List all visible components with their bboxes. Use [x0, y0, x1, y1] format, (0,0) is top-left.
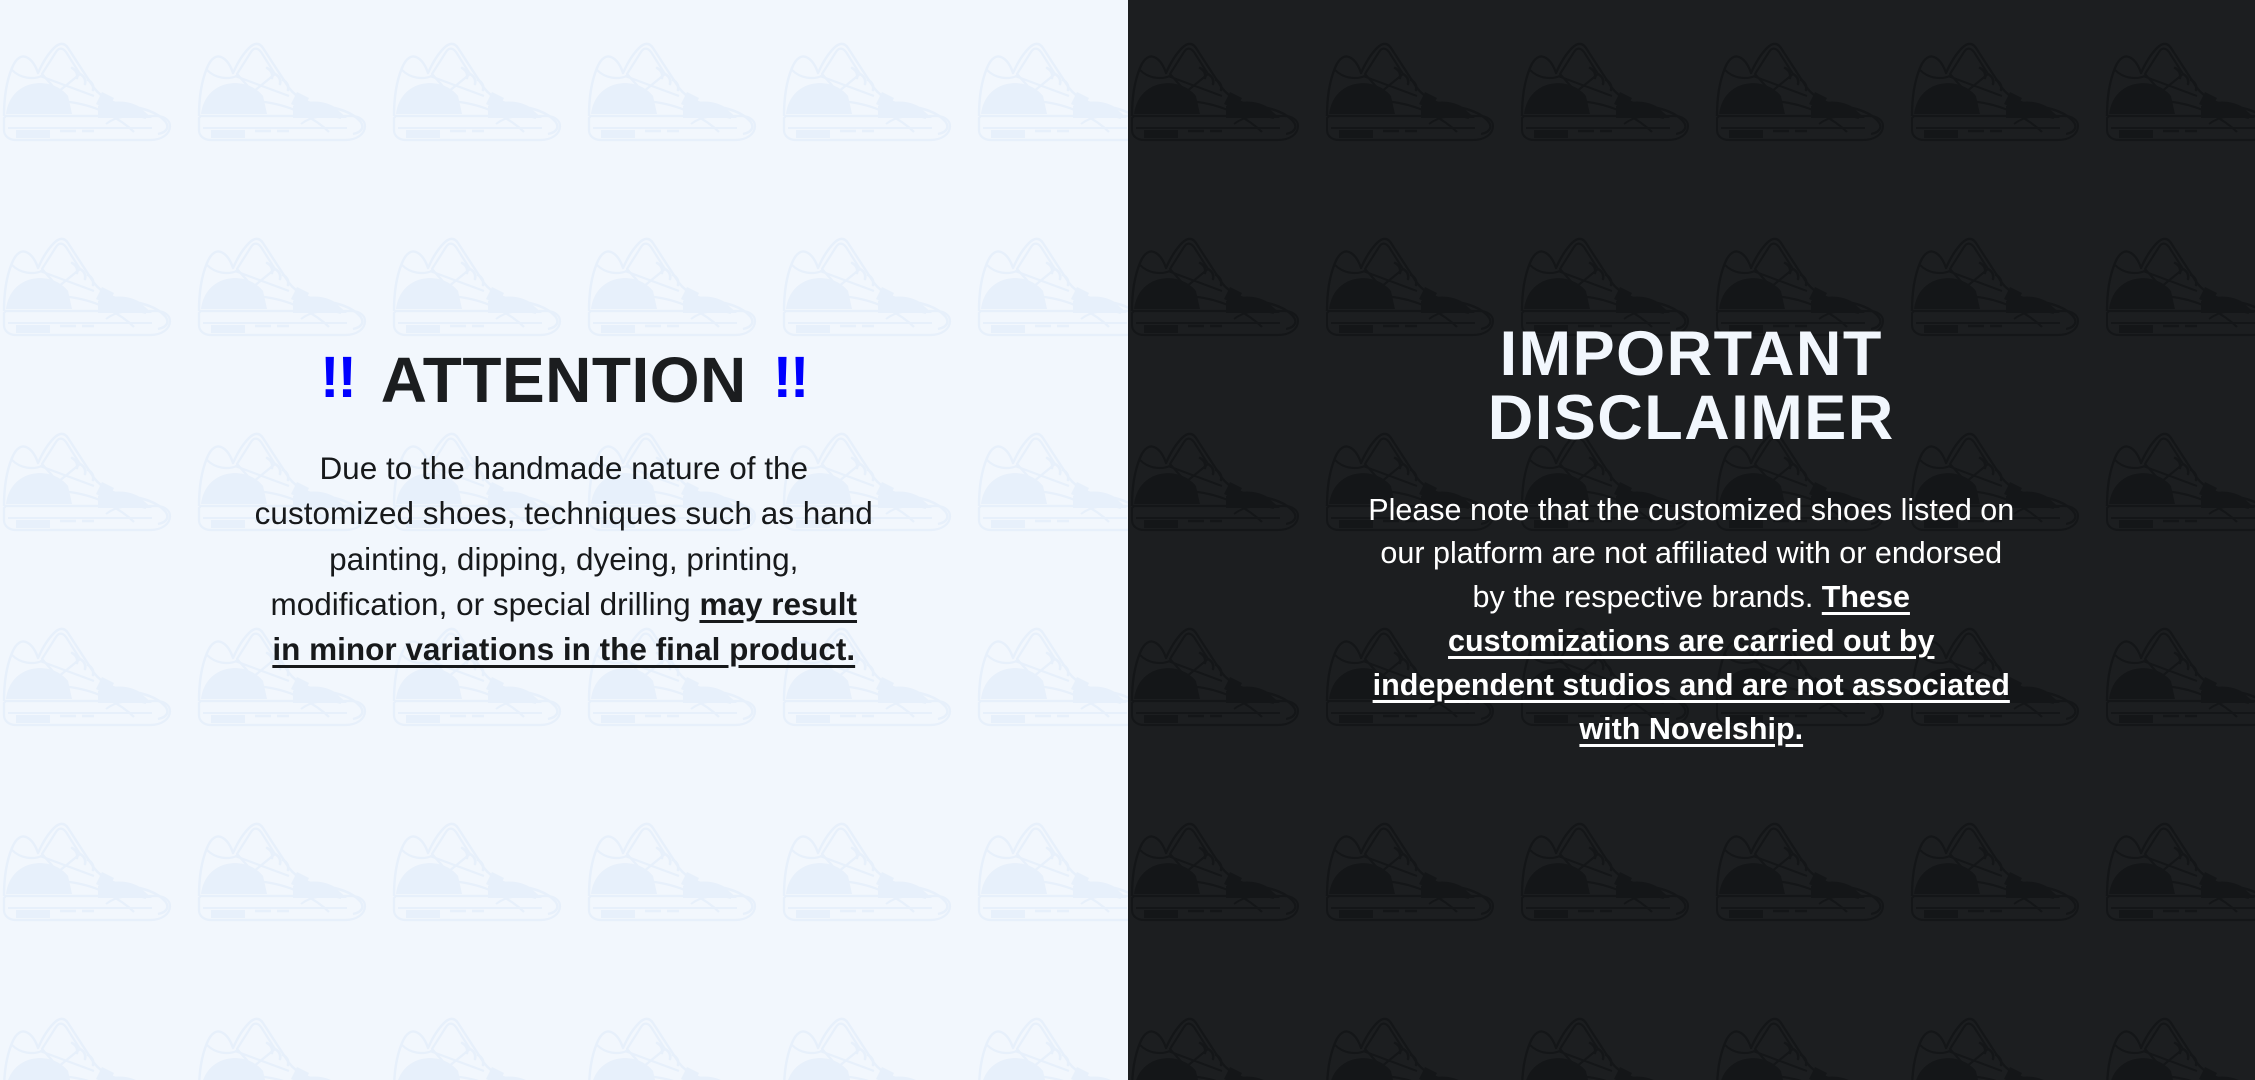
- disclaimer-panel: IMPORTANT DISCLAIMER Please note that th…: [1128, 0, 2255, 1080]
- attention-panel: !! ATTENTION !! Due to the handmade natu…: [0, 0, 1128, 1080]
- disclaimer-heading-line-2: DISCLAIMER: [1488, 386, 1895, 450]
- attention-body-text: Due to the handmade nature of the custom…: [254, 446, 874, 673]
- attention-disclaimer-banner: !! ATTENTION !! Due to the handmade natu…: [0, 0, 2255, 1080]
- attention-heading: !! ATTENTION !!: [320, 348, 807, 412]
- attention-heading-word: ATTENTION: [381, 348, 747, 412]
- disclaimer-body-normal: Please note that the customized shoes li…: [1368, 493, 2014, 615]
- attention-panel-content: !! ATTENTION !! Due to the handmade natu…: [0, 0, 1128, 673]
- disclaimer-heading: IMPORTANT DISCLAIMER: [1488, 322, 1895, 451]
- double-exclamation-right-icon: !!: [773, 349, 808, 407]
- disclaimer-heading-line-1: IMPORTANT: [1488, 322, 1895, 386]
- disclaimer-panel-content: IMPORTANT DISCLAIMER Please note that th…: [1128, 0, 2255, 752]
- disclaimer-body-text: Please note that the customized shoes li…: [1361, 489, 2021, 752]
- double-exclamation-left-icon: !!: [320, 349, 355, 407]
